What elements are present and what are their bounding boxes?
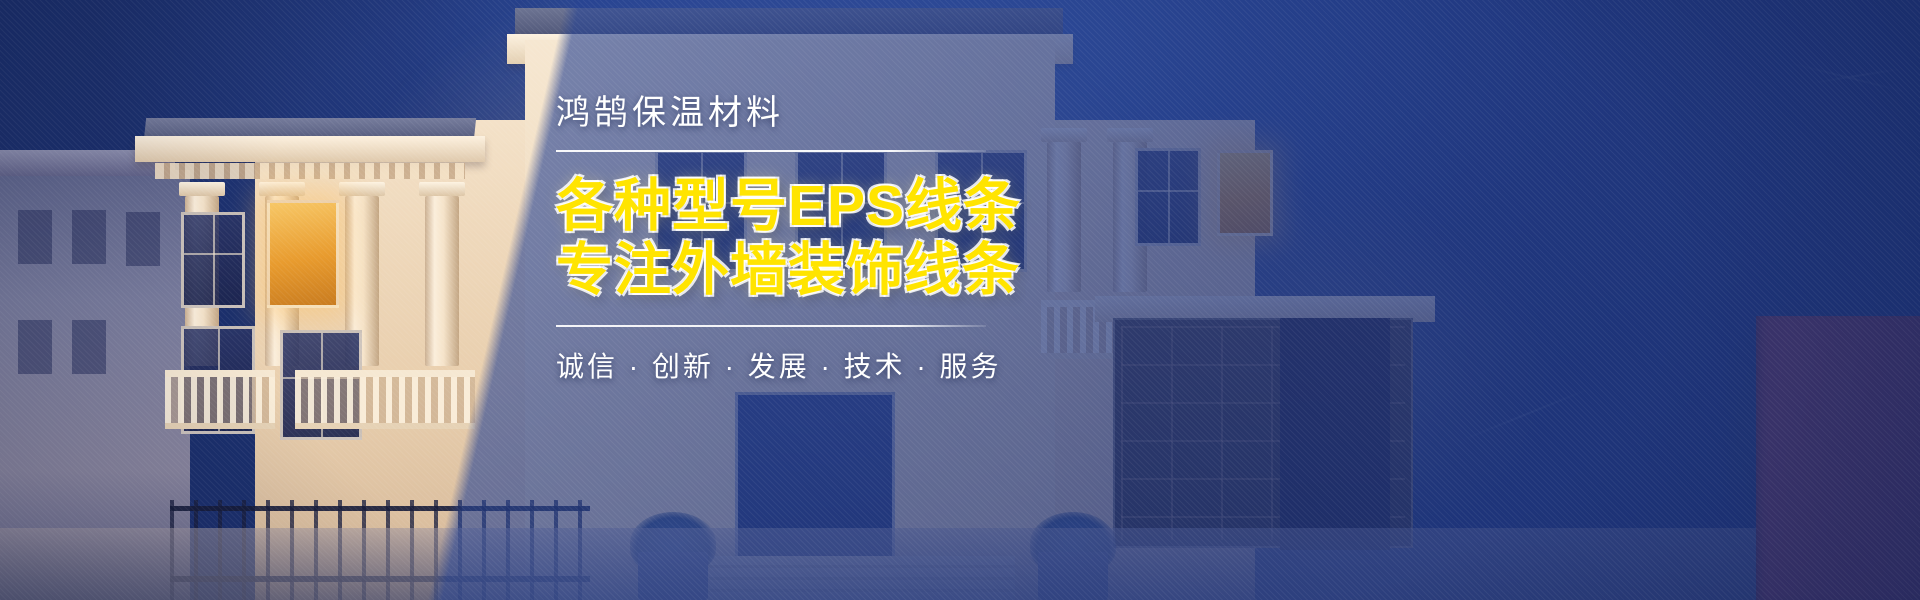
divider-top — [556, 150, 986, 152]
headline-line-1: 各种型号EPS线条 — [556, 174, 1026, 239]
brand-name: 鸿鹄保温材料 — [556, 92, 1026, 135]
divider-bottom — [556, 325, 986, 327]
banner-copy: 鸿鹄保温材料 各种型号EPS线条 专注外墙装饰线条 诚信 · 创新 · 发展 ·… — [556, 92, 1026, 385]
promo-banner: 鸿鹄保温材料 各种型号EPS线条 专注外墙装饰线条 诚信 · 创新 · 发展 ·… — [0, 0, 1920, 600]
tagline: 诚信 · 创新 · 发展 · 技术 · 服务 — [556, 345, 1026, 385]
headline-line-2: 专注外墙装饰线条 — [556, 238, 1026, 303]
